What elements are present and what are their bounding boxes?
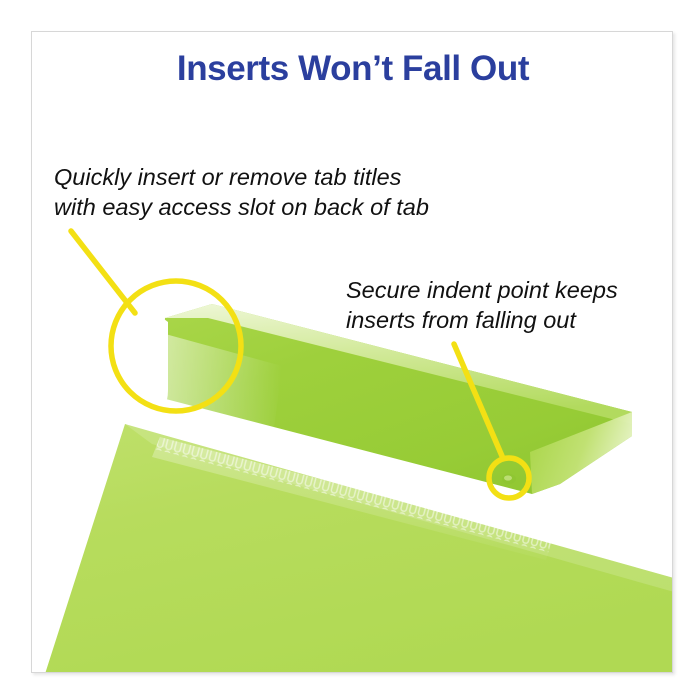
callout-right-line-1: Secure indent point keeps: [346, 275, 618, 305]
page-title: Inserts Won’t Fall Out: [32, 49, 673, 89]
secure-indent-point: [502, 474, 516, 484]
product-feature-graphic: Inserts Won’t Fall Out Quickly insert or…: [0, 0, 700, 700]
callout-right-text: Secure indent point keeps inserts from f…: [346, 275, 618, 335]
product-illustration: [32, 32, 673, 673]
callout-right-line-2: inserts from falling out: [346, 305, 618, 335]
photo-frame: Inserts Won’t Fall Out Quickly insert or…: [31, 31, 673, 673]
tab-access-slot: [124, 319, 183, 425]
callout-left-line-2: with easy access slot on back of tab: [54, 192, 429, 222]
callout-left-line-1: Quickly insert or remove tab titles: [54, 162, 429, 192]
callout-left-text: Quickly insert or remove tab titles with…: [54, 162, 429, 222]
